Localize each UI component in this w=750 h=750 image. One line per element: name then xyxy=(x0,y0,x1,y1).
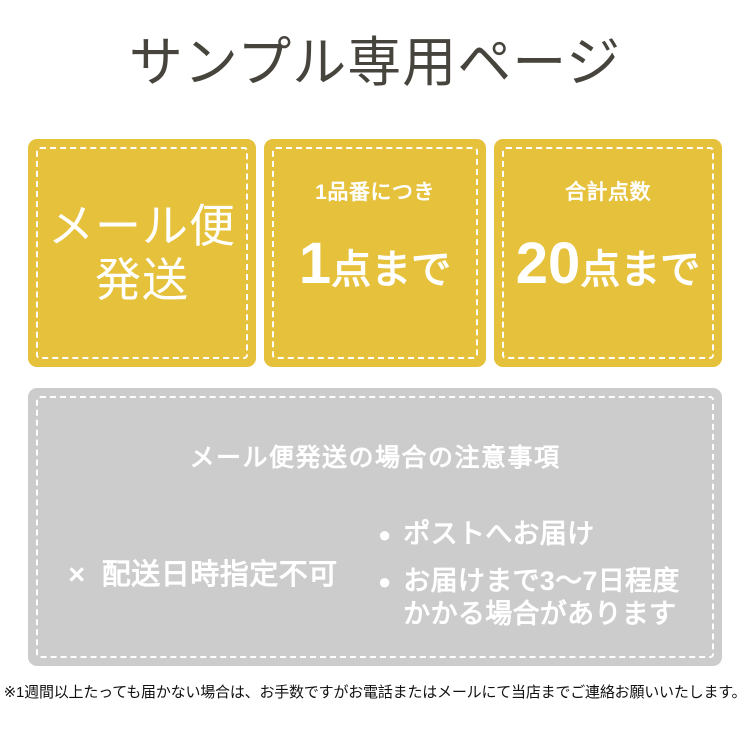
list-item-line-2: かかる場合があります xyxy=(403,598,679,631)
card-mail-shipping: メール便 発送 xyxy=(28,139,256,367)
footnote: ※1週間以上たっても届かない場合は、お手数ですがお電話またはメールにて当店までご… xyxy=(0,682,750,704)
card-per-item-limit: 1品番につき 1 点まで xyxy=(264,139,486,367)
card-per-item-unit: 点まで xyxy=(331,241,451,299)
card-mail-line-2: 発送 xyxy=(95,253,189,307)
card-total-value: 20 点まで xyxy=(516,235,701,299)
list-item-text: お届けまで3〜7日程度 かかる場合があります xyxy=(403,565,679,631)
shipping-card-row: メール便 発送 1品番につき 1 点まで 合計点数 20 点まで xyxy=(28,139,722,367)
card-per-item-number: 1 xyxy=(299,235,331,293)
list-item-line-1: ポストへお届け xyxy=(403,519,594,549)
bullet-dot-icon: ● xyxy=(378,565,391,598)
card-total-limit: 合計点数 20 点まで xyxy=(494,139,722,367)
page-title: サンプル専用ページ xyxy=(0,32,750,94)
no-date-designation: × 配送日時指定不可 xyxy=(68,558,337,592)
card-mail-line-1: メール便 xyxy=(48,199,236,253)
notice-panel: メール便発送の場合の注意事項 × 配送日時指定不可 ● ポストへお届け ● xyxy=(28,388,722,666)
card-total-unit: 点まで xyxy=(580,241,700,299)
bullet-dot-icon: ● xyxy=(378,518,391,551)
notice-left-column: × 配送日時指定不可 xyxy=(28,510,378,650)
notice-body: × 配送日時指定不可 ● ポストへお届け ● お届けまで3〜7日程度 かかる場合… xyxy=(28,510,722,650)
notice-title: メール便発送の場合の注意事項 xyxy=(28,443,722,473)
list-item-line-1: お届けまで3〜7日程度 xyxy=(403,566,679,596)
card-total-heading: 合計点数 xyxy=(565,181,651,205)
card-per-item-heading: 1品番につき xyxy=(315,181,435,205)
sample-shipping-info-page: サンプル専用ページ メール便 発送 1品番につき 1 点まで 合計点数 20 点… xyxy=(0,0,750,750)
card-total-number: 20 xyxy=(516,235,581,293)
card-per-item-value: 1 点まで xyxy=(299,235,451,299)
list-item: ● お届けまで3〜7日程度 かかる場合があります xyxy=(378,565,722,631)
list-item: ● ポストへお届け xyxy=(378,518,722,551)
cross-icon: × xyxy=(68,558,85,592)
no-date-designation-label: 配送日時指定不可 xyxy=(102,558,338,592)
list-item-text: ポストへお届け xyxy=(403,518,594,551)
notice-right-column: ● ポストへお届け ● お届けまで3〜7日程度 かかる場合があります xyxy=(378,510,722,645)
